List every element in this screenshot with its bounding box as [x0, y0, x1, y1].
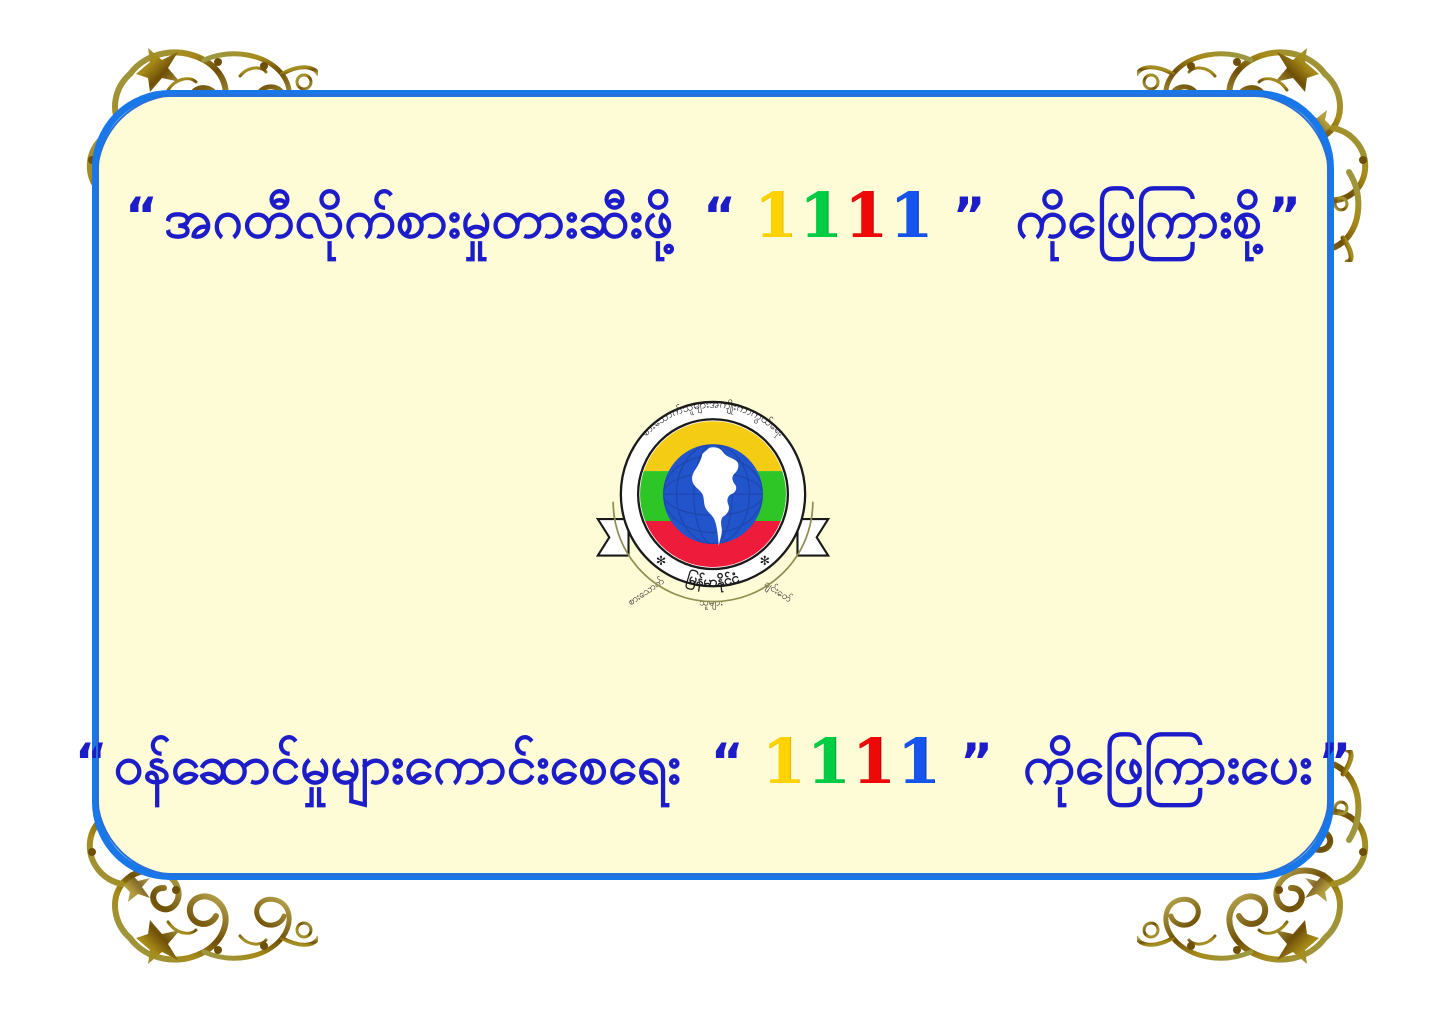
hotline-number-1: 1 1 1 1 [754, 185, 935, 247]
poster-root: “ အဂတီလိုက်စားမှုတားဆီးဖို့ “ 1 1 1 1 ” … [0, 0, 1455, 1012]
inner-quote-close-1: ” [953, 191, 986, 241]
hotline-digit-3: 1 [852, 731, 897, 793]
seal-star-left-icon: ✻ [656, 553, 666, 568]
hotline-digit-4: 1 [897, 731, 942, 793]
quote-open-1: “ [125, 191, 158, 241]
hotline-number-2: 1 1 1 1 [762, 731, 943, 793]
slogan-line-1-text-before: အဂတီလိုက်စားမှုတားဆီးဖို့ [164, 185, 673, 263]
quote-close-1: ” [1268, 191, 1301, 241]
hotline-digit-4: 1 [889, 185, 934, 247]
seal-star-right-icon: ✻ [760, 553, 770, 568]
slogan-card: “ အဂတီလိုက်စားမှုတားဆီးဖို့ “ 1 1 1 1 ” … [92, 90, 1334, 880]
hotline-digit-2: 1 [799, 185, 844, 247]
slogan-line-2: “ ဝန်ဆောင်မှုများကောင်းစေရေး “ 1 1 1 1 ”… [75, 731, 1351, 809]
emblem-container: စားသောက်သူများအကျိုးကာကွယ်ရေး [588, 377, 838, 617]
myanmar-consumer-affairs-seal-icon: စားသောက်သူများအကျိုးကာကွယ်ရေး [588, 377, 838, 617]
inner-quote-open-2: “ [711, 737, 744, 787]
slogan-line-2-text-after: ကိုဖြေကြားပေး [1023, 731, 1312, 809]
hotline-digit-1: 1 [762, 731, 807, 793]
quote-open-2: “ [75, 737, 108, 787]
hotline-digit-1: 1 [754, 185, 799, 247]
slogan-line-1-text-after: ကိုဖြေကြားစို့ [1015, 185, 1262, 263]
hotline-digit-3: 1 [844, 185, 889, 247]
slogan-line-2-text-before: ဝန်ဆောင်မှုများကောင်းစေရေး [114, 731, 681, 809]
slogan-line-1: “ အဂတီလိုက်စားမှုတားဆီးဖို့ “ 1 1 1 1 ” … [125, 185, 1301, 263]
inner-quote-open-1: “ [703, 191, 736, 241]
quote-close-2: ” [1318, 737, 1351, 787]
hotline-digit-2: 1 [807, 731, 852, 793]
inner-quote-close-2: ” [960, 737, 993, 787]
